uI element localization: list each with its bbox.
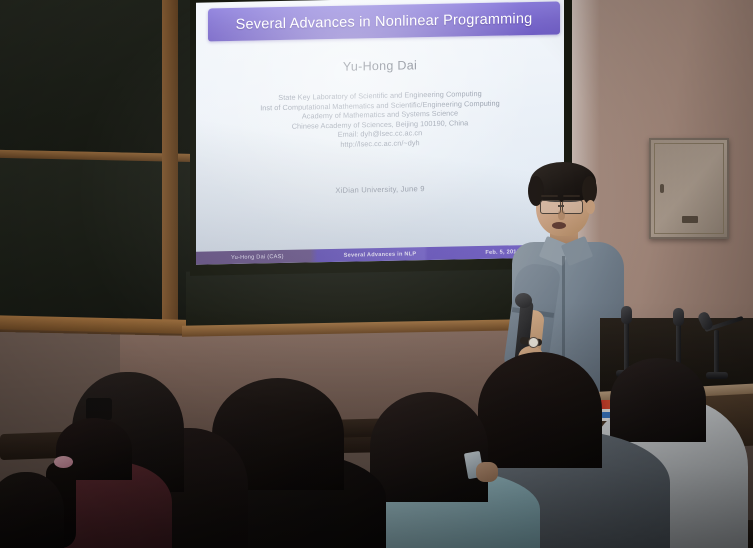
slide-author: Yu-Hong Dai — [196, 55, 564, 76]
panel-latch-icon — [682, 216, 698, 223]
speaker-mouth — [552, 222, 566, 229]
mic-base-3 — [706, 372, 728, 379]
glasses-bridge — [558, 205, 564, 207]
speaker-ear — [586, 200, 595, 214]
slide-title-banner: Several Advances in Nonlinear Programmin… — [208, 1, 560, 41]
footer-title: Several Advances in NLP — [319, 247, 442, 262]
mic-capsule-2-icon — [673, 308, 684, 326]
audience-head-lightblue-shirt — [370, 392, 488, 502]
audience-head-gray-shirt — [478, 352, 602, 468]
pink-hair-tie — [54, 456, 73, 468]
wall-access-panel — [649, 138, 729, 239]
panel-knob-icon — [660, 184, 664, 193]
footer-author: Yu-Hong Dai (CAS) — [196, 249, 319, 264]
chalkboard-frame — [0, 0, 204, 336]
glasses-lens-right — [562, 200, 583, 214]
audience-hand-holding-phone — [476, 462, 498, 482]
mic-stand-3 — [714, 330, 719, 376]
chalkboard-post — [162, 0, 178, 333]
speaker-nose — [558, 210, 565, 220]
slide-affiliation-block: State Key Laboratory of Scientific and E… — [196, 87, 564, 152]
audience-head-white-shirt — [610, 358, 706, 442]
camera-device — [86, 398, 112, 420]
slide-title: Several Advances in Nonlinear Programmin… — [208, 1, 560, 41]
lecture-hall-photo: Several Advances in Nonlinear Programmin… — [0, 0, 753, 548]
mic-capsule-1-icon — [621, 306, 632, 324]
